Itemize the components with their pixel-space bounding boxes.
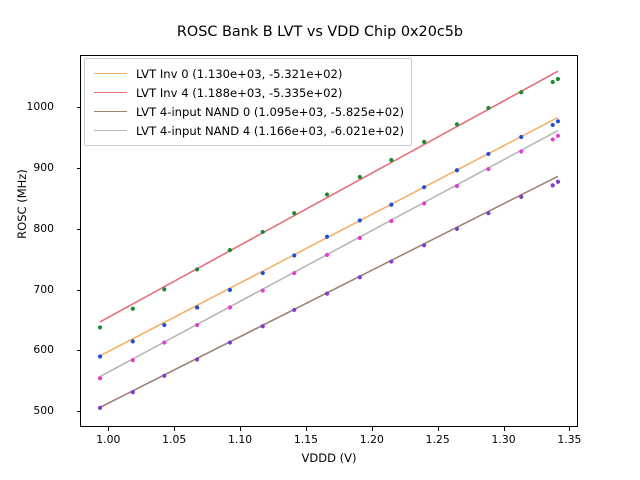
data-point xyxy=(162,374,166,378)
data-point xyxy=(162,287,166,291)
y-axis-label: ROSC (MHz) xyxy=(15,104,29,304)
y-tick-mark xyxy=(77,229,81,230)
data-point xyxy=(358,236,362,240)
data-point xyxy=(551,123,555,127)
data-point xyxy=(358,218,362,222)
legend-item-1[interactable]: LVT Inv 4 (1.188e+03, -5.335e+02) xyxy=(91,83,404,102)
data-point xyxy=(556,77,560,81)
data-point xyxy=(228,305,232,309)
y-tick-label: 500 xyxy=(0,404,54,417)
data-point xyxy=(195,357,199,361)
data-point xyxy=(292,271,296,275)
data-point xyxy=(325,253,329,257)
fit-line-2 xyxy=(100,176,558,407)
data-point xyxy=(486,106,490,110)
data-point xyxy=(325,235,329,239)
legend-label: LVT 4-input NAND 4 (1.166e+03, -6.021e+0… xyxy=(136,124,404,138)
data-point xyxy=(551,80,555,84)
legend-line-swatch xyxy=(94,111,127,112)
data-point xyxy=(228,340,232,344)
x-tick-label: 1.30 xyxy=(474,433,534,446)
x-tick-label: 1.15 xyxy=(276,433,336,446)
x-tick-label: 1.35 xyxy=(539,433,599,446)
data-point xyxy=(261,230,265,234)
data-point xyxy=(162,340,166,344)
data-point xyxy=(422,201,426,205)
data-point xyxy=(389,203,393,207)
data-point xyxy=(195,323,199,327)
data-point xyxy=(261,324,265,328)
legend-item-2[interactable]: LVT 4-input NAND 0 (1.095e+03, -5.825e+0… xyxy=(91,102,404,121)
data-point xyxy=(292,253,296,257)
data-point xyxy=(358,175,362,179)
y-tick-mark xyxy=(77,411,81,412)
data-point xyxy=(455,168,459,172)
data-point xyxy=(556,119,560,123)
data-point xyxy=(98,354,102,358)
data-point xyxy=(455,184,459,188)
data-point xyxy=(519,135,523,139)
data-point xyxy=(422,140,426,144)
x-tick-label: 1.00 xyxy=(78,433,138,446)
data-point xyxy=(486,152,490,156)
data-point xyxy=(551,137,555,141)
x-tick-label: 1.10 xyxy=(210,433,270,446)
data-point xyxy=(389,158,393,162)
legend-line-swatch xyxy=(94,92,127,93)
data-point xyxy=(228,288,232,292)
data-point xyxy=(551,183,555,187)
legend-line-swatch xyxy=(94,130,127,131)
legend-label: LVT Inv 4 (1.188e+03, -5.335e+02) xyxy=(136,86,342,100)
data-point xyxy=(292,308,296,312)
data-point xyxy=(261,288,265,292)
data-point xyxy=(131,358,135,362)
x-tick-mark xyxy=(240,427,241,431)
legend-item-3[interactable]: LVT 4-input NAND 4 (1.166e+03, -6.021e+0… xyxy=(91,121,404,140)
data-point xyxy=(98,406,102,410)
data-point xyxy=(325,192,329,196)
x-tick-mark xyxy=(108,427,109,431)
data-point xyxy=(455,227,459,231)
legend-line-swatch xyxy=(94,73,127,74)
data-point xyxy=(325,292,329,296)
y-tick-mark xyxy=(77,290,81,291)
data-point xyxy=(261,271,265,275)
data-point xyxy=(486,211,490,215)
chart-legend: LVT Inv 0 (1.130e+03, -5.321e+02)LVT Inv… xyxy=(84,58,412,146)
y-tick-mark xyxy=(77,107,81,108)
data-point xyxy=(422,185,426,189)
data-point xyxy=(519,90,523,94)
data-point xyxy=(98,325,102,329)
data-point xyxy=(519,195,523,199)
data-point xyxy=(131,339,135,343)
x-axis-label: VDDD (V) xyxy=(80,451,578,465)
legend-item-0[interactable]: LVT Inv 0 (1.130e+03, -5.321e+02) xyxy=(91,64,404,83)
data-point xyxy=(556,180,560,184)
x-tick-mark xyxy=(438,427,439,431)
data-point xyxy=(131,390,135,394)
y-tick-mark xyxy=(77,168,81,169)
legend-label: LVT 4-input NAND 0 (1.095e+03, -5.825e+0… xyxy=(136,105,404,119)
x-tick-mark xyxy=(372,427,373,431)
data-point xyxy=(556,134,560,138)
data-point xyxy=(162,323,166,327)
chart-figure: ROSC Bank B LVT vs VDD Chip 0x20c5b 1.00… xyxy=(0,0,640,480)
data-point xyxy=(228,248,232,252)
x-tick-mark xyxy=(306,427,307,431)
x-tick-mark xyxy=(504,427,505,431)
chart-title: ROSC Bank B LVT vs VDD Chip 0x20c5b xyxy=(0,24,640,40)
data-point xyxy=(455,122,459,126)
legend-label: LVT Inv 0 (1.130e+03, -5.321e+02) xyxy=(136,67,342,81)
data-point xyxy=(389,259,393,263)
data-point xyxy=(98,376,102,380)
x-tick-mark xyxy=(174,427,175,431)
data-point xyxy=(389,219,393,223)
y-tick-mark xyxy=(77,350,81,351)
data-point xyxy=(422,243,426,247)
x-tick-label: 1.05 xyxy=(144,433,204,446)
x-tick-label: 1.20 xyxy=(342,433,402,446)
x-tick-label: 1.25 xyxy=(408,433,468,446)
data-point xyxy=(195,305,199,309)
data-point xyxy=(195,267,199,271)
data-point xyxy=(519,149,523,153)
data-point xyxy=(131,307,135,311)
x-tick-mark xyxy=(569,427,570,431)
data-point xyxy=(358,275,362,279)
data-point xyxy=(486,167,490,171)
y-tick-label: 600 xyxy=(0,343,54,356)
data-point xyxy=(292,211,296,215)
